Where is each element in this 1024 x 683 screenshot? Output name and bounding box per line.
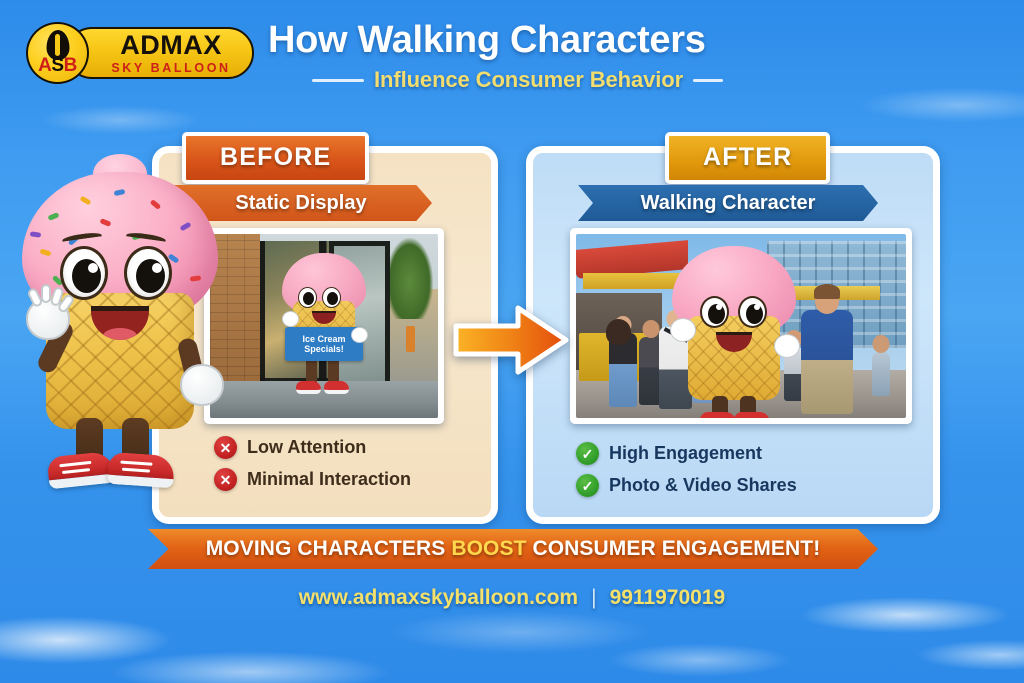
subtitle-dash-right [693,79,723,82]
mascot-eye-right [124,246,172,300]
mascot-eye-right [322,287,341,308]
check-circle-icon: ✓ [576,442,599,465]
ice-cream-cone-mascot [12,168,228,508]
subtitle-row: Influence Consumer Behavior [268,67,908,93]
banner-text: MOVING CHARACTERS BOOST CONSUMER ENGAGEM… [206,537,821,561]
bottom-banner: MOVING CHARACTERS BOOST CONSUMER ENGAGEM… [148,529,878,569]
right-arrow-icon [452,300,570,380]
person-head [643,320,660,338]
person-head [815,289,839,314]
after-badge: AFTER [665,132,830,184]
check-circle-icon: ✓ [576,474,599,497]
mascot-glove-left [670,318,696,342]
street-post [406,326,415,352]
footer-separator: | [591,586,596,610]
banner-text-after: CONSUMER ENGAGEMENT! [527,537,821,560]
before-photo: Ice Cream Specials! [210,234,438,418]
after-bullet-list: ✓ High Engagement ✓ Photo & Video Shares [576,442,797,506]
banner-text-before: MOVING CHARACTERS [206,537,452,560]
person-head [615,316,632,334]
mascot-cone [688,316,780,400]
subtitle-dash-left [312,79,364,82]
page-title: How Walking Characters [268,20,908,61]
mascot-shoe-left [296,381,321,394]
bullet-label: High Engagement [609,443,762,464]
crowd-person [609,333,637,407]
list-item: ✕ Low Attention [214,436,411,459]
person-head [872,335,889,353]
footer-contact: www.admaxskyballoon.com | 9911970019 [299,586,725,610]
footer-website[interactable]: www.admaxskyballoon.com [299,586,578,610]
brand-logo[interactable]: ADMAX SKY BALLOON ASB [26,22,254,84]
mascot-glove-right [180,364,224,406]
mascot-waving-glove [26,298,70,340]
mascot-eye-left [700,296,729,328]
crowd-person [801,310,853,414]
list-item: ✕ Minimal Interaction [214,468,411,491]
title-block: How Walking Characters Influence Consume… [268,20,908,93]
list-item: ✓ High Engagement [576,442,797,465]
after-ribbon: Walking Character [578,185,878,221]
footer-phone[interactable]: 9911970019 [610,586,726,610]
page-subtitle: Influence Consumer Behavior [374,67,683,93]
logo-badge: ASB [26,22,89,84]
logo-tagline: SKY BALLOON [111,62,230,75]
mascot-eye-right [738,296,767,328]
footer: www.admaxskyballoon.com | 9911970019 [0,586,1024,610]
mascot-eye-left [60,246,108,300]
banner-highlight: BOOST [451,537,526,560]
mascot-shoe-right [324,381,349,394]
mascot-glove-right [774,334,800,358]
before-bullet-list: ✕ Low Attention ✕ Minimal Interaction [214,436,411,500]
mascot-shoe-right [107,452,175,489]
mascot-glove-right [351,327,368,343]
bullet-label: Minimal Interaction [247,469,411,490]
mascot-glove-left [282,311,299,327]
static-mascot: Ice Cream Specials! [276,253,372,403]
mascot-shoe-right [734,412,770,418]
logo-badge-text: ASB [28,56,87,75]
header: ADMAX SKY BALLOON ASB How Walking Charac… [0,0,1024,112]
storefront-tree [386,238,434,319]
mascot-eye-left [298,287,317,308]
walking-mascot [668,246,800,418]
before-photo-frame: Ice Cream Specials! [204,228,444,424]
logo-name: ADMAX [120,32,222,59]
bullet-label: Photo & Video Shares [609,475,797,496]
mascot-shoe-left [47,451,116,490]
crowd-person [872,352,890,396]
after-photo [576,234,906,418]
mascot-shoe-left [700,412,736,418]
after-photo-frame [570,228,912,424]
list-item: ✓ Photo & Video Shares [576,474,797,497]
logo-pill: ADMAX SKY BALLOON [66,27,254,79]
bullet-label: Low Attention [247,437,366,458]
